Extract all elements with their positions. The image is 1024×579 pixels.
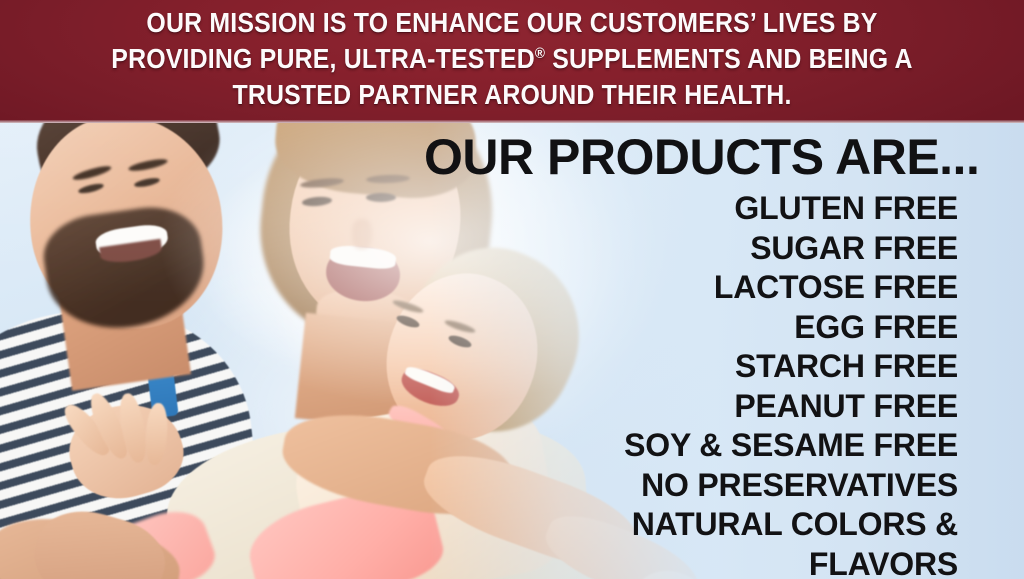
mother-eye-right <box>366 193 396 202</box>
mission-line-2-text: PROVIDING PURE, ULTRA-TESTED <box>111 43 535 74</box>
mission-statement-text: OUR MISSION IS TO ENHANCE OUR CUSTOMERS’… <box>0 5 1024 113</box>
mother-nose <box>352 219 372 249</box>
mission-line-1: OUR MISSION IS TO ENHANCE OUR CUSTOMERS’… <box>54 5 970 41</box>
product-claims-list: GLUTEN FREESUGAR FREELACTOSE FREEEGG FRE… <box>424 189 958 579</box>
promotional-poster: OUR MISSION IS TO ENHANCE OUR CUSTOMERS’… <box>0 0 1024 579</box>
product-claim-item: EGG FREE <box>424 308 958 348</box>
product-claim-item: PEANUT FREE <box>424 387 958 427</box>
mission-line-2: PROVIDING PURE, ULTRA-TESTED® SUPPLEMENT… <box>54 41 970 77</box>
product-claims-panel: OUR PRODUCTS ARE... GLUTEN FREESUGAR FRE… <box>424 123 1024 579</box>
registered-trademark-icon: ® <box>535 45 545 62</box>
product-claim-item: GLUTEN FREE <box>424 189 958 229</box>
products-heading: OUR PRODUCTS ARE... <box>424 131 958 183</box>
product-claim-item: NATURAL COLORS & <box>424 505 958 545</box>
product-claim-item: STARCH FREE <box>424 347 958 387</box>
product-claim-item: SOY & SESAME FREE <box>424 426 958 466</box>
product-claim-item: FLAVORS <box>424 545 958 579</box>
product-claim-item: NO PRESERVATIVES <box>424 466 958 506</box>
product-claim-item: SUGAR FREE <box>424 229 958 269</box>
product-claim-item: LACTOSE FREE <box>424 268 958 308</box>
mission-statement-banner: OUR MISSION IS TO ENHANCE OUR CUSTOMERS’… <box>0 0 1024 123</box>
mission-line-2-tail: SUPPLEMENTS AND BEING A <box>545 43 913 74</box>
mission-line-3: TRUSTED PARTNER AROUND THEIR HEALTH. <box>54 77 970 113</box>
